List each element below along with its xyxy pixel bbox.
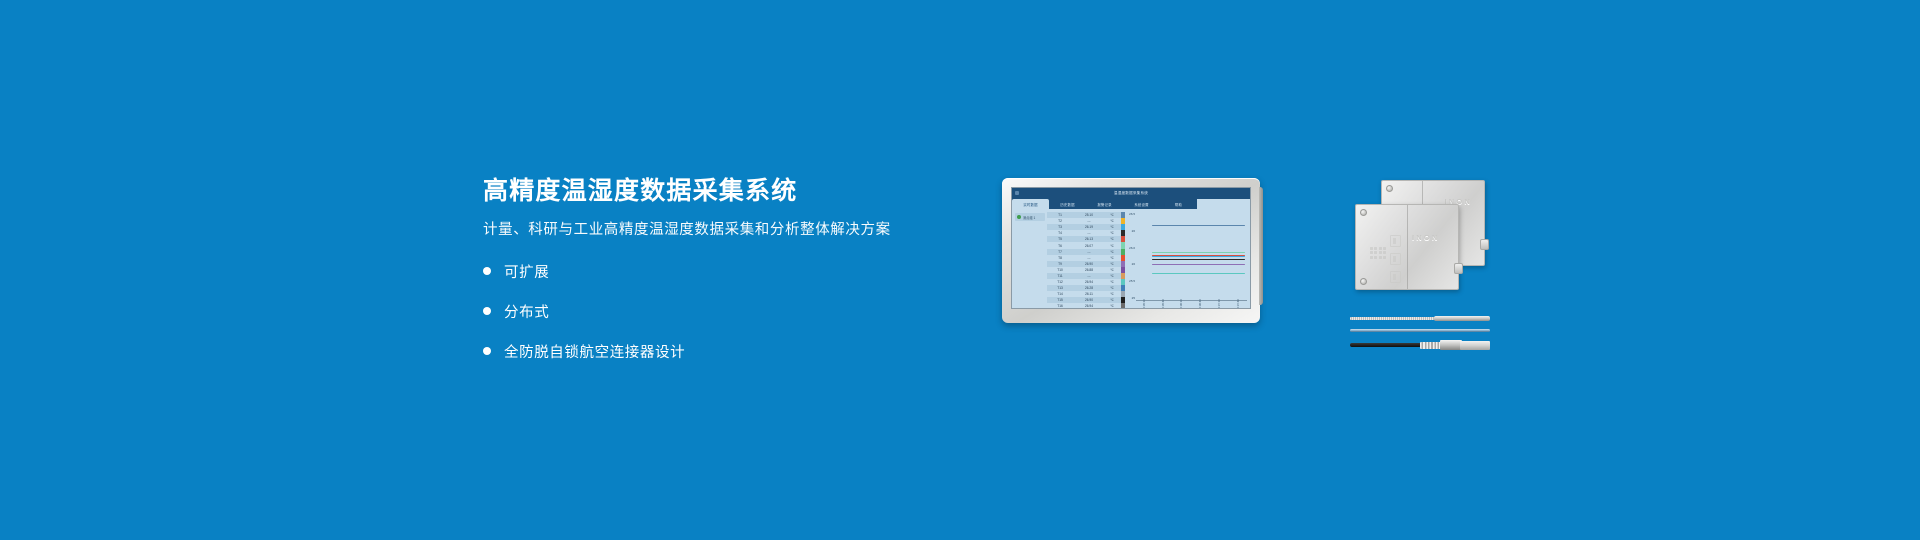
screw-icon [1386, 185, 1393, 192]
unit-cell: ℃ [1105, 231, 1119, 235]
bullet-dot-icon [483, 267, 491, 275]
page-title: 高精度温湿度数据采集系统 [483, 178, 953, 206]
value-cell: 26.11 [1073, 292, 1105, 296]
unit-cell: ℃ [1105, 262, 1119, 266]
port-icon [1390, 253, 1401, 265]
slim-blue-probe [1350, 329, 1490, 332]
channel-cell: T14 [1047, 292, 1073, 296]
channel-cell: T11 [1047, 274, 1073, 278]
channel-cell: T16 [1047, 304, 1073, 308]
unit-cell: ℃ [1105, 268, 1119, 272]
chart-y-tick: 26 [1132, 262, 1135, 266]
chart-plot-area [1136, 213, 1247, 296]
tab-help[interactable]: 帮助 [1160, 199, 1197, 209]
armored-temperature-probe [1350, 316, 1490, 321]
value-cell: --- [1073, 274, 1105, 278]
connector-icon [1454, 263, 1463, 274]
value-cell: 26.88 [1073, 268, 1105, 272]
chart-x-tick: 10:36:40 [1199, 299, 1202, 309]
channel-cell: T13 [1047, 286, 1073, 290]
product-banner: 高精度温湿度数据采集系统 计量、科研与工业高精度温湿度数据采集和分析整体解决方案… [0, 0, 1920, 540]
chart-x-tick: 10:35:10 [1143, 299, 1146, 309]
chart-y-tick: 26.5 [1129, 212, 1135, 216]
chart-series-line [1152, 252, 1245, 253]
screw-icon [1360, 278, 1367, 285]
chart-x-tick-labels: 10:35:1010:35:4010:36:1010:36:4010:37:10… [1136, 301, 1247, 309]
unit-cell: ℃ [1105, 219, 1119, 223]
unit-cell: ℃ [1105, 237, 1119, 241]
unit-cell: ℃ [1105, 298, 1119, 302]
channel-cell: T15 [1047, 298, 1073, 302]
channel-cell: T8 [1047, 256, 1073, 260]
value-cell: 26.90 [1073, 298, 1105, 302]
chart-series-line [1152, 264, 1245, 265]
chart-series-line [1152, 256, 1245, 257]
sensor-probes [1350, 316, 1490, 358]
banner-copy: 高精度温湿度数据采集系统 计量、科研与工业高精度温湿度数据采集和分析整体解决方案… [483, 178, 953, 381]
group-panel: 测点组 1 [1012, 209, 1047, 309]
channel-cell: T10 [1047, 268, 1073, 272]
value-cell: 26.13 [1073, 237, 1105, 241]
feature-label: 分布式 [504, 301, 549, 322]
channel-cell: T12 [1047, 280, 1073, 284]
chart-series-line [1152, 273, 1245, 274]
port-icon [1390, 235, 1401, 247]
table-row[interactable]: T1626.94℃ [1047, 303, 1121, 309]
tab-settings[interactable]: 系统设置 [1123, 199, 1160, 209]
channel-cell: T2 [1047, 219, 1073, 223]
channel-cell: T9 [1047, 262, 1073, 266]
cabled-aviation-connector-probe [1350, 340, 1490, 350]
value-cell: --- [1073, 250, 1105, 254]
feature-label: 可扩展 [504, 261, 549, 282]
module-front: INON [1355, 204, 1459, 290]
list-item: 分布式 [483, 301, 953, 322]
feature-label: 全防脱自锁航空连接器设计 [504, 341, 685, 362]
acquisition-modules: INON INON [1355, 180, 1485, 300]
channel-cell: T1 [1047, 213, 1073, 217]
unit-cell: ℃ [1105, 213, 1119, 217]
tab-bar: 实时数据 历史数据 报警记录 系统设置 帮助 [1012, 199, 1250, 209]
bullet-dot-icon [483, 307, 491, 315]
unit-cell: ℃ [1105, 274, 1119, 278]
chart-series-line [1152, 225, 1245, 226]
chart-series-line [1152, 259, 1245, 260]
screw-icon [1360, 209, 1367, 216]
channel-cell: T5 [1047, 237, 1073, 241]
tab-alarms[interactable]: 报警记录 [1086, 199, 1123, 209]
page-subtitle: 计量、科研与工业高精度温湿度数据采集和分析整体解决方案 [483, 222, 953, 239]
value-cell: --- [1073, 231, 1105, 235]
value-cell: 26.07 [1073, 244, 1105, 248]
channel-cell: T7 [1047, 250, 1073, 254]
chart-x-tick: 10:36:10 [1180, 299, 1183, 309]
device-screen: 温湿度数据采集系统 实时数据 历史数据 报警记录 系统设置 帮助 测点组 1 [1011, 187, 1251, 309]
group-label: 测点组 1 [1023, 215, 1035, 220]
channel-cell: T3 [1047, 225, 1073, 229]
connector-icon [1480, 239, 1489, 250]
screen-body: 测点组 1 T125.10℃T2---℃T326.19℃T4---℃T526.1… [1012, 209, 1250, 309]
chart-x-tick: 10:37:10 [1218, 299, 1221, 309]
value-cell: 26.94 [1073, 280, 1105, 284]
brand-label: INON [1412, 233, 1440, 242]
unit-cell: ℃ [1105, 256, 1119, 260]
list-item: 可扩展 [483, 261, 953, 282]
value-cell: 26.94 [1073, 304, 1105, 308]
port-icon [1390, 271, 1401, 283]
unit-cell: ℃ [1105, 244, 1119, 248]
value-cell: 26.19 [1073, 225, 1105, 229]
value-cell: --- [1073, 219, 1105, 223]
chart-y-axis: 26.52626.02625.525 [1125, 212, 1136, 296]
channel-cell: T4 [1047, 231, 1073, 235]
panel-pc-device: 温湿度数据采集系统 实时数据 历史数据 报警记录 系统设置 帮助 测点组 1 [1002, 178, 1260, 323]
terminal-grid-icon [1370, 247, 1386, 259]
chart-y-tick: 25 [1132, 296, 1135, 300]
tab-realtime[interactable]: 实时数据 [1012, 199, 1049, 209]
unit-cell: ℃ [1105, 304, 1119, 308]
status-ok-icon [1017, 215, 1021, 219]
unit-cell: ℃ [1105, 225, 1119, 229]
trend-chart: 26.52626.02625.525 10:35:1010:35:4010:36… [1125, 209, 1250, 309]
unit-cell: ℃ [1105, 286, 1119, 290]
value-cell: 26.90 [1073, 262, 1105, 266]
feature-list: 可扩展 分布式 全防脱自锁航空连接器设计 [483, 261, 953, 362]
chart-y-tick: 26.0 [1129, 246, 1135, 250]
value-cell: 25.10 [1073, 213, 1105, 217]
unit-cell: ℃ [1105, 292, 1119, 296]
tab-bar-filler [1197, 199, 1250, 209]
app-title: 温湿度数据采集系统 [1114, 191, 1148, 196]
chart-x-tick: 10:35:40 [1162, 299, 1165, 309]
app-title-bar: 温湿度数据采集系统 [1012, 188, 1250, 199]
list-item: 全防脱自锁航空连接器设计 [483, 341, 953, 362]
value-cell: --- [1073, 256, 1105, 260]
device-bezel: 温湿度数据采集系统 实时数据 历史数据 报警记录 系统设置 帮助 测点组 1 [1002, 178, 1260, 323]
group-item[interactable]: 测点组 1 [1015, 213, 1045, 221]
unit-cell: ℃ [1105, 280, 1119, 284]
channel-cell: T6 [1047, 244, 1073, 248]
value-cell: 26.28 [1073, 286, 1105, 290]
tab-history[interactable]: 历史数据 [1049, 199, 1086, 209]
chart-x-tick: 10:37:40 [1237, 299, 1240, 309]
back-arrow-icon[interactable] [1015, 191, 1019, 195]
chart-y-tick: 25.5 [1129, 279, 1135, 283]
channel-table[interactable]: T125.10℃T2---℃T326.19℃T4---℃T526.13℃T626… [1047, 209, 1121, 309]
bullet-dot-icon [483, 347, 491, 355]
unit-cell: ℃ [1105, 250, 1119, 254]
chart-y-tick: 26 [1132, 229, 1135, 233]
